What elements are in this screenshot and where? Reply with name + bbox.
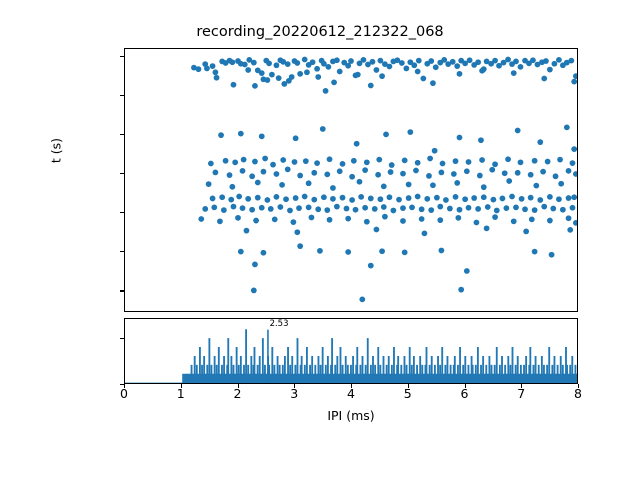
y-tick-mark-top (120, 56, 124, 57)
x-tick-mark (294, 384, 295, 388)
x-tick-mark (181, 384, 182, 388)
x-tick-label-0: 0 (104, 388, 144, 401)
y-tick-mark-top (120, 212, 124, 213)
x-axis-label: IPI (ms) (124, 408, 578, 423)
x-tick-mark (465, 384, 466, 388)
x-tick-mark (351, 384, 352, 388)
x-tick-label-6: 6 (445, 388, 485, 401)
y-tick-mark-top (120, 251, 124, 252)
scatter-points-layer (125, 49, 577, 311)
raster-plot-axes (124, 48, 578, 312)
y-axis-label-top: t (s) (49, 81, 64, 221)
x-tick-label-2: 2 (218, 388, 258, 401)
x-tick-label-1: 1 (161, 388, 201, 401)
x-tick-mark (578, 384, 579, 388)
x-tick-label-8: 8 (558, 388, 598, 401)
y-tick-mark-top (120, 95, 124, 96)
histogram-axes (124, 318, 578, 384)
y-tick-mark-top (120, 134, 124, 135)
x-tick-label-7: 7 (501, 388, 541, 401)
peak-annotation-label: 2.53 (270, 320, 289, 329)
x-tick-mark (521, 384, 522, 388)
x-tick-label-3: 3 (274, 388, 314, 401)
y-tick-mark-bottom (120, 338, 124, 339)
matplotlib-figure: recording_20220612_212322_068 t (s) 0102… (0, 0, 640, 480)
x-tick-label-5: 5 (388, 388, 428, 401)
x-tick-mark (408, 384, 409, 388)
y-tick-mark-top (120, 173, 124, 174)
page-title: recording_20220612_212322_068 (0, 24, 640, 40)
x-tick-mark (238, 384, 239, 388)
x-tick-mark (124, 384, 125, 388)
histogram-line-layer (125, 319, 577, 383)
y-tick-mark-top (120, 290, 124, 291)
x-tick-label-4: 4 (331, 388, 371, 401)
